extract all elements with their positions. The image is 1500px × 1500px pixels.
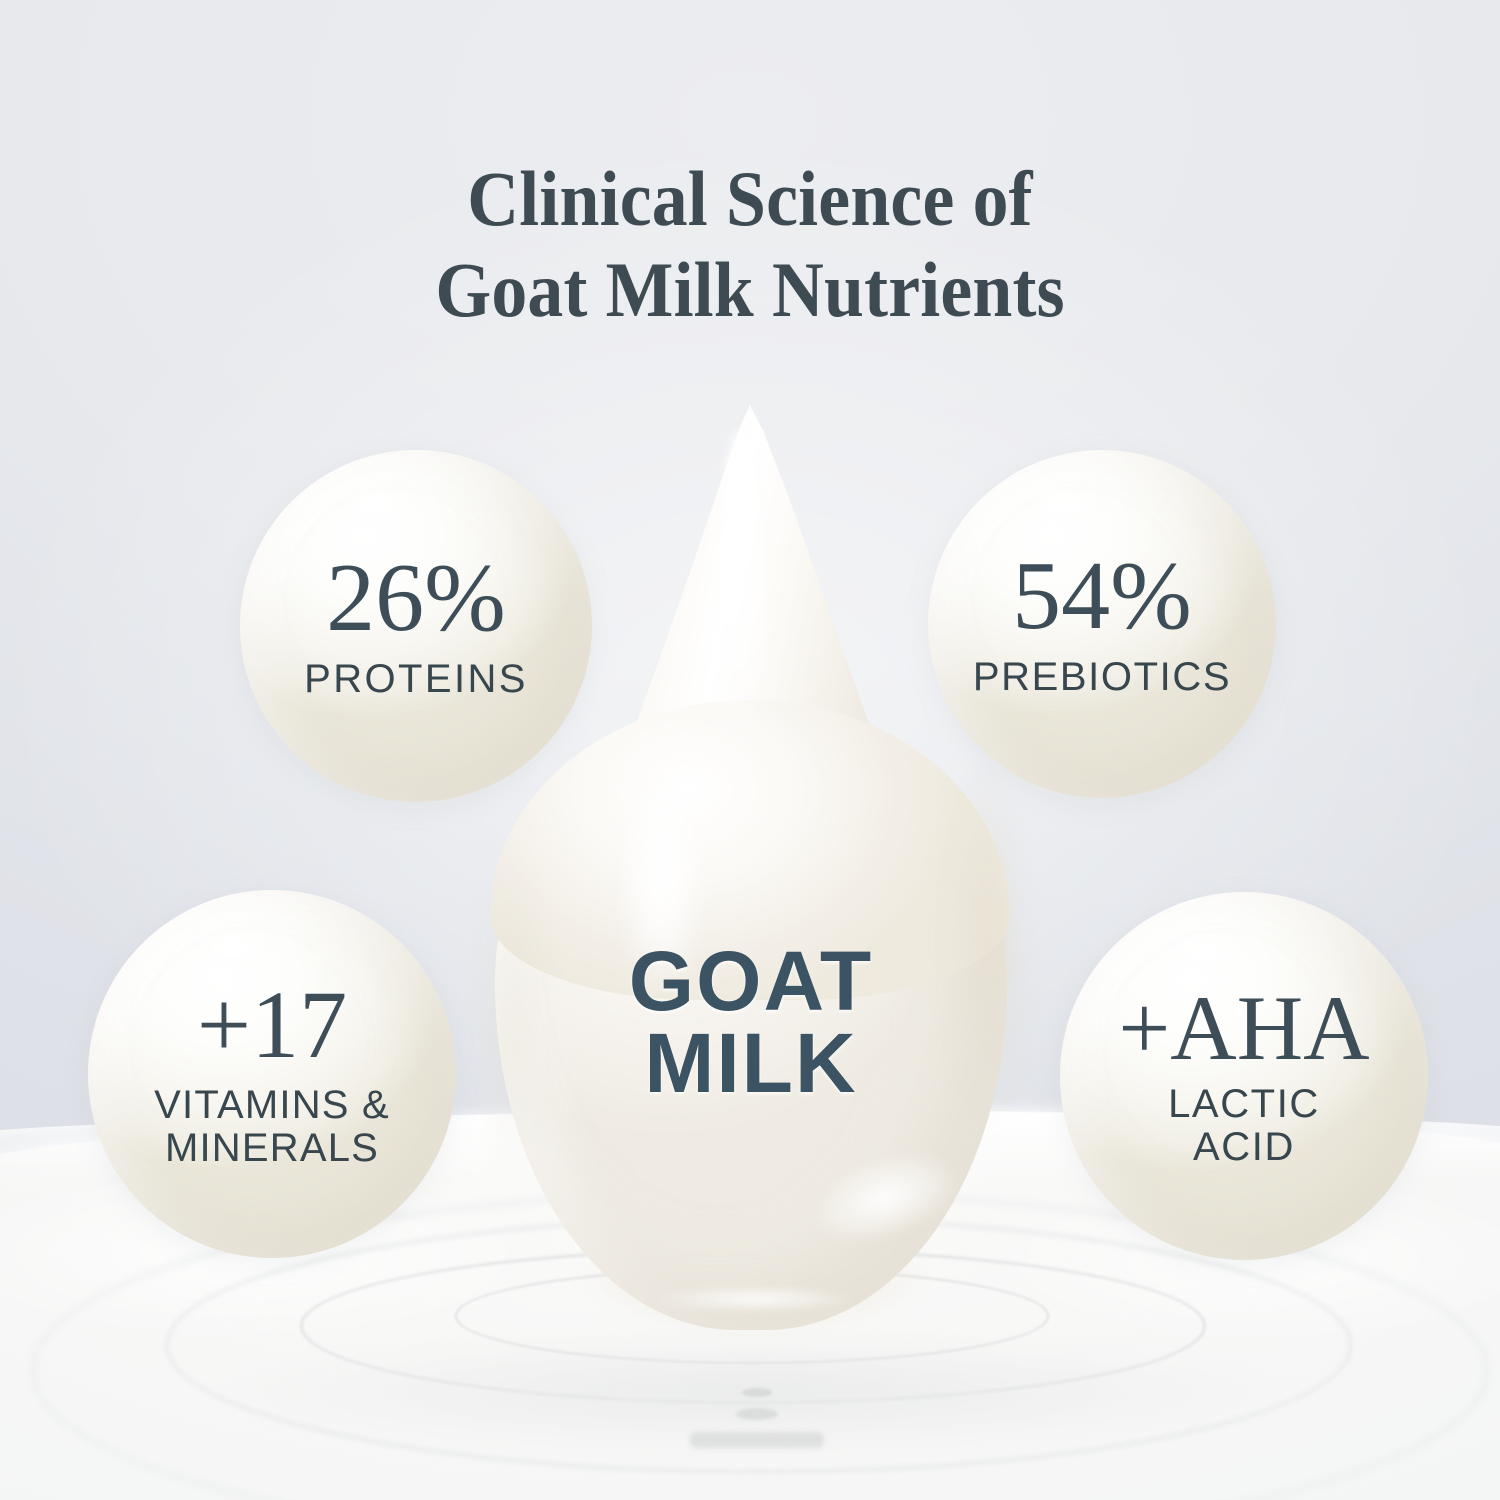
badge-prebiotics-label: PREBIOTICS [928,656,1276,699]
badge-vitamins-minerals[interactable]: +17 VITAMINS & MINERALS [88,890,456,1258]
badge-vitamins-minerals-label: VITAMINS & MINERALS [88,1084,456,1170]
badge-proteins-content: 26% PROTEINS [240,550,592,701]
badge-aha-lactic-acid-content: +AHA LACTIC ACID [1060,983,1428,1170]
page-title: Clinical Science of Goat Milk Nutrients [60,154,1440,335]
badge-aha-lactic-acid-value: +AHA [1060,983,1428,1073]
droplet-label: GOAT MILK [495,940,1007,1105]
milk-pool-foreground-shade [90,1340,1410,1470]
badge-proteins-value: 26% [240,550,592,646]
badge-prebiotics-content: 54% PREBIOTICS [928,548,1276,699]
milk-splash-dot-small [742,1388,772,1397]
badge-proteins[interactable]: 26% PROTEINS [240,450,592,802]
badge-vitamins-minerals-value: +17 [88,978,456,1072]
droplet-label-line-1: GOAT [495,940,1007,1022]
badge-proteins-label: PROTEINS [240,658,592,701]
badge-aha-lactic-acid[interactable]: +AHA LACTIC ACID [1060,892,1428,1260]
badge-prebiotics-value: 54% [928,548,1276,644]
badge-aha-lactic-acid-label: LACTIC ACID [1060,1083,1428,1169]
milk-splash-dot-medium [736,1408,778,1420]
droplet-label-line-2: MILK [495,1022,1007,1104]
milk-splash-mark [690,1432,824,1448]
badge-prebiotics[interactable]: 54% PREBIOTICS [928,450,1276,798]
badge-vitamins-minerals-content: +17 VITAMINS & MINERALS [88,978,456,1170]
goat-milk-infographic: Clinical Science of Goat Milk Nutrients … [0,0,1500,1500]
